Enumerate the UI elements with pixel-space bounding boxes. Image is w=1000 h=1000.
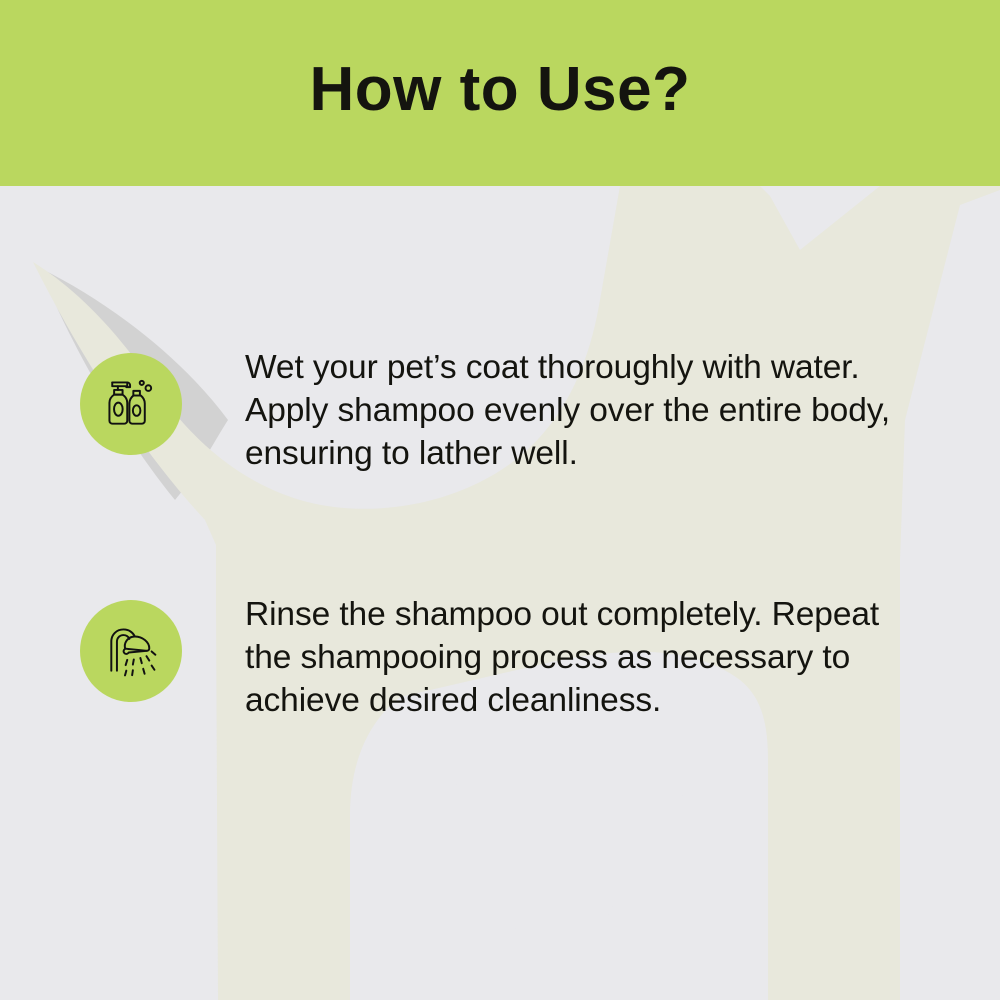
shampoo-bottles-icon <box>101 374 161 434</box>
how-to-use-poster: How to Use? <box>0 0 1000 1000</box>
step-1-icon-circle <box>80 353 182 455</box>
page-title: How to Use? <box>0 0 1000 186</box>
step-1-description: Wet your pet’s coat thoroughly with wate… <box>245 346 915 475</box>
step-item-1: Wet your pet’s coat thoroughly with wate… <box>0 353 1000 475</box>
header-band: How to Use? <box>0 0 1000 186</box>
steps-list: Wet your pet’s coat thoroughly with wate… <box>0 186 1000 1000</box>
shower-head-icon <box>101 621 161 681</box>
step-2-icon-circle <box>80 600 182 702</box>
step-2-description: Rinse the shampoo out completely. Repeat… <box>245 593 915 722</box>
step-item-2: Rinse the shampoo out completely. Repeat… <box>0 600 1000 722</box>
